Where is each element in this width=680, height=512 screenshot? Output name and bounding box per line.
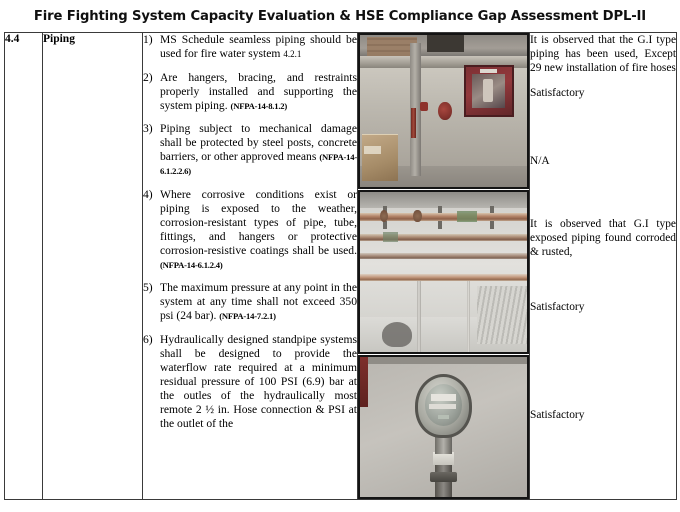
requirement-number: 4) xyxy=(143,188,153,202)
photos-cell xyxy=(358,33,530,500)
requirement-item: 6)Hydraulically designed standpipe syste… xyxy=(143,333,357,431)
requirement-item: 3)Piping subject to mechanical damage sh… xyxy=(143,122,357,178)
observation-status-3: Satisfactory xyxy=(530,301,676,313)
row-item-cell: Piping xyxy=(43,33,143,500)
requirement-number: 2) xyxy=(143,71,153,85)
observation-text-2: It is observed that G.I type exposed pip… xyxy=(530,217,676,259)
page-title: Fire Fighting System Capacity Evaluation… xyxy=(0,0,680,32)
overhead-corroded-piping-photo xyxy=(358,190,529,354)
requirements-list: 1)MS Schedule seamless piping should be … xyxy=(143,33,357,431)
observations-cell: It is observed that the G.I type piping … xyxy=(530,33,677,500)
requirement-number: 3) xyxy=(143,122,153,136)
observation-status-2: N/A xyxy=(530,155,676,167)
row-number-cell: 4.4 xyxy=(5,33,43,500)
requirement-text: Where corrosive conditions exist or pipi… xyxy=(160,188,357,257)
requirement-ref: (NFPA-14-6.1.2.4) xyxy=(160,260,223,270)
requirement-item: 2)Are hangers, bracing, and restraints p… xyxy=(143,71,357,113)
requirement-text: MS Schedule seamless piping should be us… xyxy=(160,33,357,60)
assessment-table: 4.4 Piping 1)MS Schedule seamless piping… xyxy=(4,32,677,500)
observation-status-1: Satisfactory xyxy=(530,87,676,99)
requirement-ref: (NFPA-14-8.1.2) xyxy=(231,101,288,111)
observation-text-1: It is observed that the G.I type piping … xyxy=(530,33,676,75)
requirements-cell: 1)MS Schedule seamless piping should be … xyxy=(143,33,358,500)
requirement-item: 5)The maximum pressure at any point in t… xyxy=(143,281,357,323)
assessment-table-wrapper: 4.4 Piping 1)MS Schedule seamless piping… xyxy=(4,32,676,500)
requirement-text: Hydraulically designed standpipe systems… xyxy=(160,333,357,430)
table-row: 4.4 Piping 1)MS Schedule seamless piping… xyxy=(5,33,677,500)
fire-hose-cabinet-on-wall-photo xyxy=(358,33,529,189)
requirement-number: 6) xyxy=(143,333,153,347)
requirement-number: 5) xyxy=(143,281,153,295)
observation-status-4: Satisfactory xyxy=(530,409,676,421)
requirement-ref: (NFPA-14-7.2.1) xyxy=(219,311,276,321)
pressure-gauge-on-pipe-photo xyxy=(358,355,529,499)
requirement-item: 1)MS Schedule seamless piping should be … xyxy=(143,33,357,61)
requirement-ref: 4.2.1 xyxy=(283,49,301,59)
photo-stack xyxy=(358,33,529,499)
requirement-item: 4)Where corrosive conditions exist or pi… xyxy=(143,188,357,272)
requirement-number: 1) xyxy=(143,33,153,47)
